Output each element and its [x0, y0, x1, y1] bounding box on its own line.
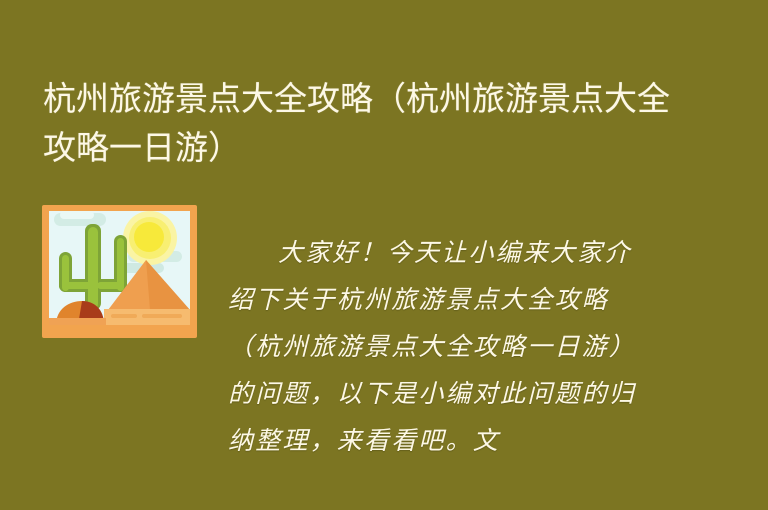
desert-scene-icon [42, 205, 197, 338]
article-page: 杭州旅游景点大全攻略（杭州旅游景点大全攻略一日游） [0, 0, 768, 510]
page-title: 杭州旅游景点大全攻略（杭州旅游景点大全攻略一日游） [43, 74, 683, 172]
article-content: 大家好！今天让小编来大家介绍下关于杭州旅游景点大全攻略（杭州旅游景点大全攻略一日… [0, 196, 768, 496]
article-body: 大家好！今天让小编来大家介绍下关于杭州旅游景点大全攻略（杭州旅游景点大全攻略一日… [228, 229, 652, 464]
desert-cactus-illustration [42, 205, 197, 338]
